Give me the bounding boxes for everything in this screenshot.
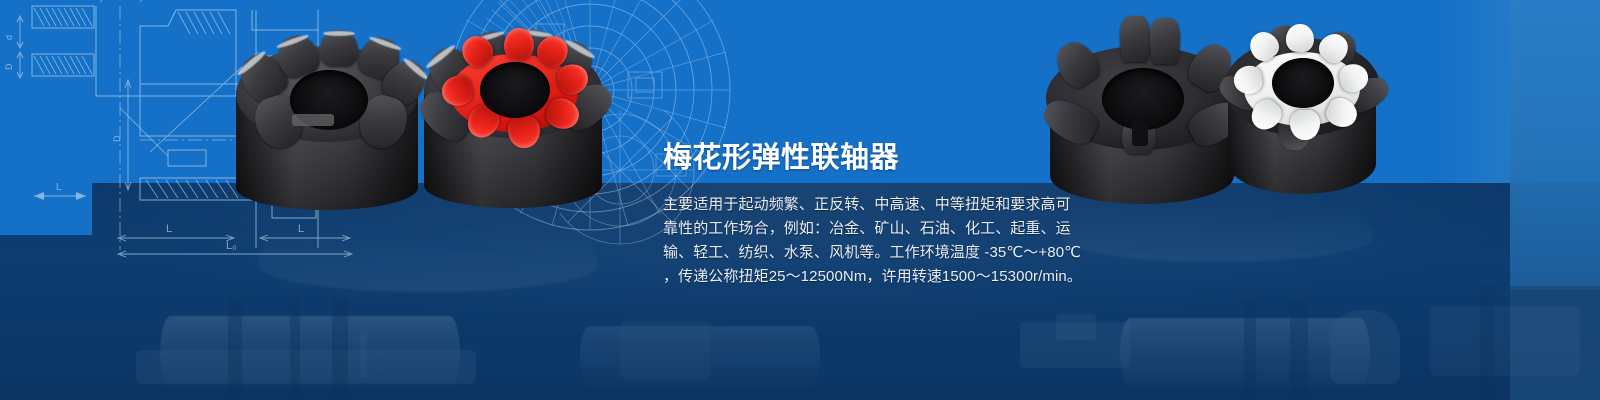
product-photo-group-left (228, 18, 618, 213)
description-line-1: 主要适用于起动频繁、正反转、中高速、中等扭矩和要求高可 (663, 193, 1067, 217)
description-line-2: 靠性的工作场合，例如：冶金、矿山、石油、化工、起重、运 (663, 217, 1067, 241)
product-reflection-left (258, 214, 598, 292)
blueprint-label-L0: L₀ (226, 240, 237, 252)
blueprint-label-D: D (112, 135, 122, 142)
product-banner: d D (0, 0, 1600, 400)
banner-description: 主要适用于起动频繁、正反转、中高速、中等扭矩和要求高可 靠性的工作场合，例如：冶… (663, 177, 1067, 289)
description-line-3: 输、轻工、纺织、水泵、风机等。工作环境温度 -35℃～+80℃ (663, 241, 1067, 265)
description-line-4: ，传递公称扭矩25～12500Nm，许用转速1500～15300r/min。 (663, 265, 1067, 289)
product-reflection-right (1062, 192, 1372, 262)
blueprint-label-L1: L (166, 223, 172, 235)
banner-copy: 梅花形弹性联轴器 主要适用于起动频繁、正反转、中高速、中等扭矩和要求高可 靠性的… (663, 139, 1083, 289)
background-right-fade (1440, 0, 1520, 183)
background-right-panel-lower (1510, 286, 1600, 400)
blueprint-label-L3: L (56, 182, 62, 193)
page-title: 梅花形弹性联轴器 (663, 139, 1083, 177)
blueprint-label-D2: D (4, 63, 14, 70)
background-right-panel (1510, 0, 1600, 290)
blueprint-label-d: d (4, 35, 14, 40)
